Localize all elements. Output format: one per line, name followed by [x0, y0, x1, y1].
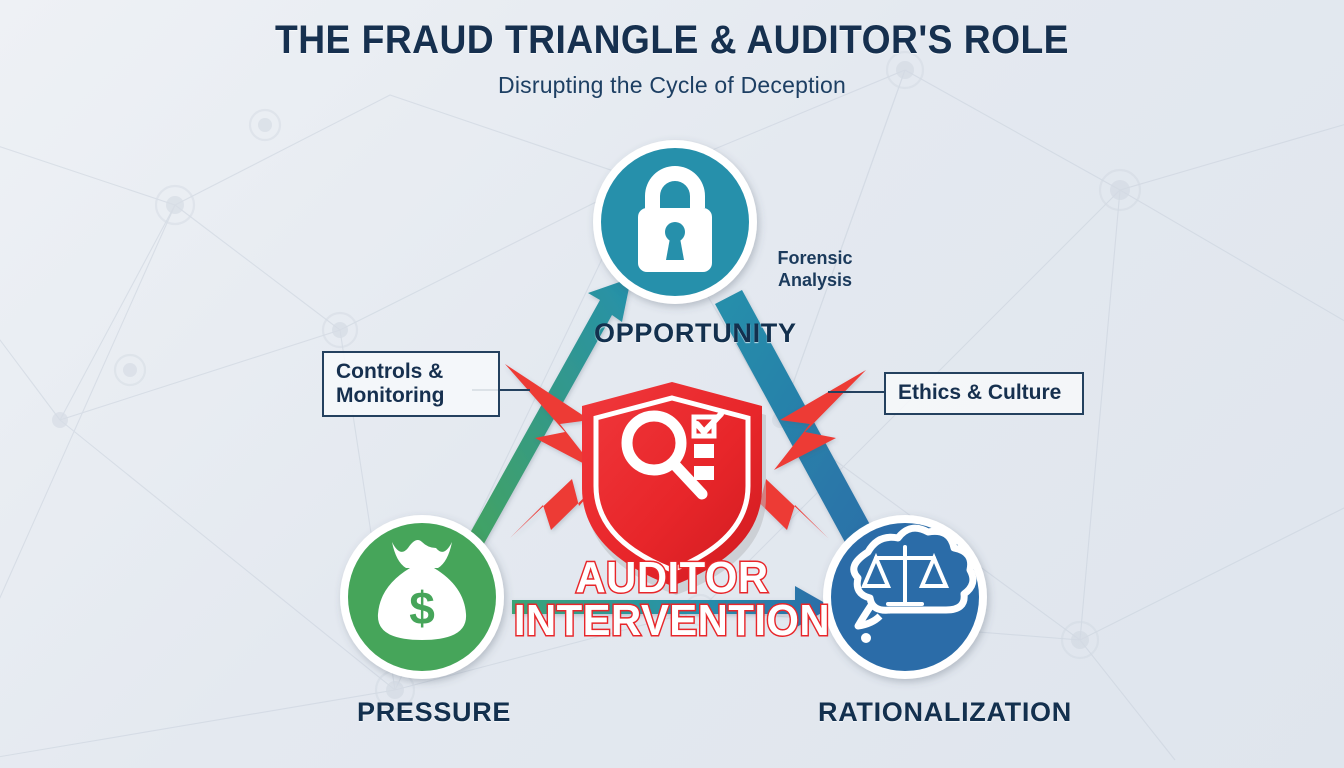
header: THE FRAUD TRIANGLE & AUDITOR'S ROLE Disr… [0, 18, 1344, 99]
node-pressure[interactable]: $ [340, 515, 504, 679]
page-title: THE FRAUD TRIANGLE & AUDITOR'S ROLE [47, 18, 1297, 63]
callout-controls-monitoring[interactable]: Controls & Monitoring [322, 351, 500, 417]
callout-ethics-culture[interactable]: Ethics & Culture [884, 372, 1084, 415]
node-rationalization[interactable] [823, 515, 987, 679]
node-label-pressure: PRESSURE [357, 697, 511, 728]
node-label-rationalization: RATIONALIZATION [818, 697, 1072, 728]
node-label-opportunity: OPPORTUNITY [594, 318, 797, 349]
page-subtitle: Disrupting the Cycle of Deception [0, 72, 1344, 99]
callout-forensic-analysis: Forensic Analysis [760, 248, 870, 291]
svg-text:$: $ [409, 582, 435, 634]
node-opportunity[interactable] [593, 140, 757, 304]
center-shield-badge[interactable] [582, 382, 766, 595]
infographic-canvas: $ [0, 0, 1344, 768]
fraud-triangle-diagram: $ [0, 0, 1344, 768]
